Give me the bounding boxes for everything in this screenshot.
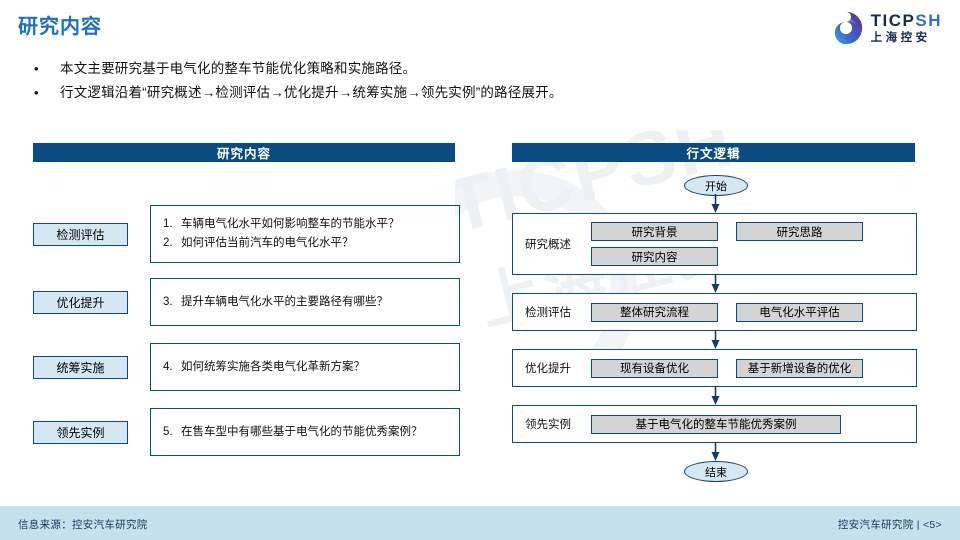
question-number: 4.	[151, 358, 181, 377]
flow-chip-group: 整体研究流程 电气化水平评估	[591, 303, 901, 322]
flow-chip-group: 基于电气化的整车节能优秀案例	[591, 415, 901, 434]
tag-detection-assessment[interactable]: 检测评估	[33, 223, 128, 246]
bullet-text: 行文逻辑沿着“研究概述→检测评估→优化提升→统筹实施→领先实例”的路径展开。	[60, 82, 563, 104]
question-text: 车辆电气化水平如何影响整车的节能水平？	[181, 215, 400, 234]
tag-optimization-improvement[interactable]: 优化提升	[33, 291, 128, 314]
bullet-item: • 行文逻辑沿着“研究概述→检测评估→优化提升→统筹实施→领先实例”的路径展开。	[34, 82, 563, 104]
flow-stage-label: 研究概述	[513, 236, 591, 252]
question-box: 1. 车辆电气化水平如何影响整车的节能水平？ 2. 如何评估当前汽车的电气化水平…	[150, 205, 460, 263]
tag-coordinated-implementation[interactable]: 统筹实施	[33, 356, 128, 379]
arrow-down-icon	[711, 331, 720, 349]
flow-stage-optimization-improvement: 优化提升 现有设备优化 基于新增设备的优化	[512, 349, 917, 387]
bullet-item: • 本文主要研究基于电气化的整车节能优化策略和实施路径。	[34, 58, 563, 80]
question-number: 2.	[151, 234, 181, 253]
logo-wordmark: TICPSH 上海控安	[871, 12, 942, 45]
bullet-marker-icon: •	[34, 82, 60, 104]
flow-chip-new-equipment-optimization[interactable]: 基于新增设备的优化	[736, 359, 863, 378]
arrow-down-icon	[711, 194, 720, 213]
content-row: 领先实例 5. 在售车型中有哪些基于电气化的节能优秀案例？	[33, 408, 460, 456]
footer-credit: 控安汽车研究院 | <5>	[838, 517, 942, 532]
flow-stage-detection-assessment: 检测评估 整体研究流程 电气化水平评估	[512, 293, 917, 331]
flow-chip-group: 研究背景 研究思路 研究内容	[591, 222, 901, 266]
question-number: 3.	[151, 293, 181, 312]
logo-text-sh: SH	[915, 11, 942, 30]
logo-text-cn: 上海控安	[871, 33, 942, 45]
flow-stage-label: 领先实例	[513, 416, 591, 432]
content-row: 统筹实施 4. 如何统筹实施各类电气化革新方案？	[33, 343, 460, 391]
arrow-down-icon	[711, 387, 720, 405]
question-number: 5.	[151, 423, 181, 442]
flow-node-end[interactable]: 结束	[684, 461, 748, 482]
footer-bar: 信息来源：控安汽车研究院 控安汽车研究院 | <5>	[0, 506, 960, 540]
flow-stage-label: 优化提升	[513, 360, 591, 376]
flow-chip-group: 现有设备优化 基于新增设备的优化	[591, 359, 901, 378]
question-text: 如何统筹实施各类电气化革新方案？	[181, 358, 365, 377]
question-text: 在售车型中有哪些基于电气化的节能优秀案例？	[181, 423, 423, 442]
logo-text-en: TICPSH	[871, 12, 942, 29]
question-box: 4. 如何统筹实施各类电气化革新方案？	[150, 343, 460, 391]
flow-chip-research-approach[interactable]: 研究思路	[736, 222, 863, 241]
writing-logic-flowchart: 开始 研究概述 研究背景 研究思路 研究内容 检测评估 整体研究流程 电气化水平…	[512, 175, 917, 505]
flow-stage-leading-cases: 领先实例 基于电气化的整车节能优秀案例	[512, 405, 917, 443]
flow-stage-label: 检测评估	[513, 304, 591, 320]
brand-logo: TICPSH 上海控安	[828, 8, 942, 48]
logo-text-ticp: TICP	[871, 11, 916, 30]
footer-source: 信息来源：控安汽车研究院	[18, 517, 148, 532]
slide-root: TICPSH 上海控安 研究内容 T	[0, 0, 960, 540]
flow-chip-electrification-level-assessment[interactable]: 电气化水平评估	[736, 303, 863, 322]
left-panel-header: 研究内容	[33, 143, 455, 162]
content-row: 检测评估 1. 车辆电气化水平如何影响整车的节能水平？ 2. 如何评估当前汽车的…	[33, 205, 460, 263]
flow-chip-electrification-energy-saving-cases[interactable]: 基于电气化的整车节能优秀案例	[591, 415, 841, 434]
swirl-logo-icon	[828, 10, 864, 46]
arrow-down-icon	[711, 443, 720, 461]
question-line: 1. 车辆电气化水平如何影响整车的节能水平？	[151, 215, 459, 234]
flow-node-start[interactable]: 开始	[684, 175, 748, 196]
page-title: 研究内容	[18, 10, 102, 39]
question-text: 如何评估当前汽车的电气化水平？	[181, 234, 354, 253]
question-line: 2. 如何评估当前汽车的电气化水平？	[151, 234, 459, 253]
question-text: 提升车辆电气化水平的主要路径有哪些？	[181, 293, 388, 312]
arrow-down-icon	[711, 275, 720, 293]
question-line: 4. 如何统筹实施各类电气化革新方案？	[151, 358, 459, 377]
question-box: 3. 提升车辆电气化水平的主要路径有哪些？	[150, 278, 460, 326]
flow-chip-research-content[interactable]: 研究内容	[591, 247, 718, 266]
flow-stage-research-overview: 研究概述 研究背景 研究思路 研究内容	[512, 213, 917, 275]
flow-chip-existing-equipment-optimization[interactable]: 现有设备优化	[591, 359, 718, 378]
content-row: 优化提升 3. 提升车辆电气化水平的主要路径有哪些？	[33, 278, 460, 326]
bullet-list: • 本文主要研究基于电气化的整车节能优化策略和实施路径。 • 行文逻辑沿着“研究…	[34, 58, 563, 106]
right-panel-header: 行文逻辑	[512, 143, 915, 162]
bullet-text: 本文主要研究基于电气化的整车节能优化策略和实施路径。	[60, 58, 416, 80]
flow-chip-overall-research-process[interactable]: 整体研究流程	[591, 303, 718, 322]
flow-chip-research-background[interactable]: 研究背景	[591, 222, 718, 241]
tag-leading-cases[interactable]: 领先实例	[33, 421, 128, 444]
bullet-marker-icon: •	[34, 58, 60, 80]
question-box: 5. 在售车型中有哪些基于电气化的节能优秀案例？	[150, 408, 460, 456]
question-line: 5. 在售车型中有哪些基于电气化的节能优秀案例？	[151, 423, 459, 442]
question-number: 1.	[151, 215, 181, 234]
question-line: 3. 提升车辆电气化水平的主要路径有哪些？	[151, 293, 459, 312]
